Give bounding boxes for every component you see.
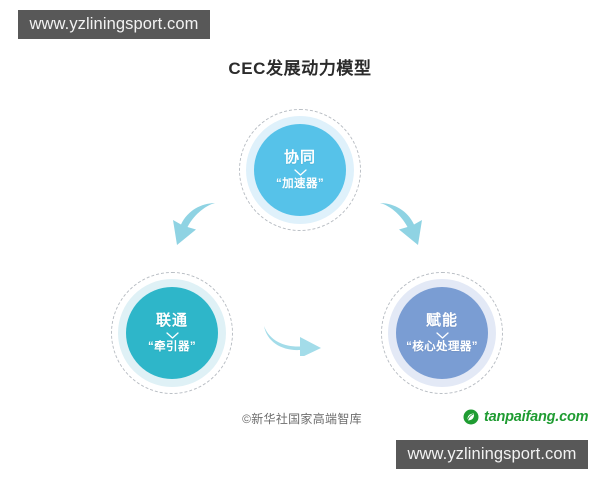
node-subtitle: “牵引器” (148, 341, 196, 353)
diagram-node-right[interactable]: 赋能 “核心处理器” (381, 272, 503, 394)
node-title: 联通 (156, 313, 188, 329)
source-credit: ©新华社国家高端智库 (222, 410, 382, 427)
node-subtitle: “加速器” (276, 178, 324, 190)
watermark-bottom: www.yzliningsport.com (396, 440, 588, 469)
cycle-diagram: 协同 “加速器” 联通 “牵引器” 赋能 (0, 0, 600, 480)
node-title: 赋能 (426, 313, 458, 329)
node-core: 赋能 “核心处理器” (396, 287, 488, 379)
arrow-left-to-right-icon (262, 320, 324, 356)
node-title: 协同 (284, 150, 316, 166)
node-subtitle: “核心处理器” (406, 341, 478, 353)
arrow-top-to-left-icon (163, 199, 219, 255)
brand-logo[interactable]: tanpaifang.com (463, 409, 588, 425)
brand-name: tanpaifang.com (484, 409, 588, 425)
arrow-top-to-right-icon (376, 199, 432, 255)
node-core: 联通 “牵引器” (126, 287, 218, 379)
chevron-down-icon (294, 169, 307, 176)
chevron-down-icon (436, 332, 449, 339)
diagram-node-top[interactable]: 协同 “加速器” (239, 109, 361, 231)
leaf-circle-icon (463, 409, 479, 425)
diagram-node-left[interactable]: 联通 “牵引器” (111, 272, 233, 394)
node-core: 协同 “加速器” (254, 124, 346, 216)
chevron-down-icon (166, 332, 179, 339)
watermark-bottom-text: www.yzliningsport.com (408, 445, 577, 464)
